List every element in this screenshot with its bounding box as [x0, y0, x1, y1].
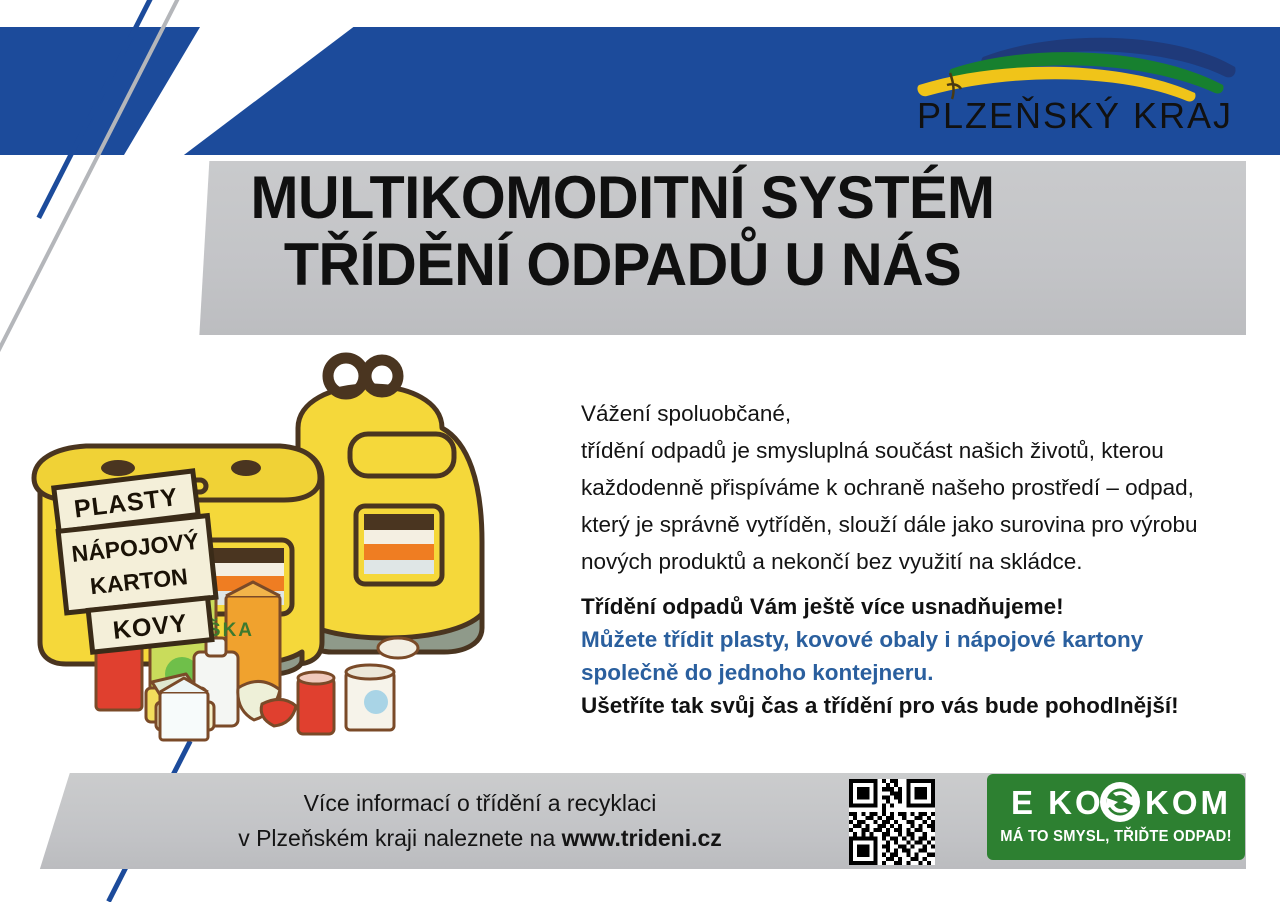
ekokom-wordmark: E KO KOM [987, 780, 1245, 824]
body-line-5: nových produktů a nekončí bez využití na… [581, 543, 1261, 580]
item-red-can [298, 678, 334, 734]
footer-line-2-prefix: v Plzeňském kraji naleznete na [238, 825, 561, 851]
bin-lid-slot-left [101, 460, 135, 476]
body-line-3: každodenně přispíváme k ochraně našeho p… [581, 469, 1261, 506]
region-logo-name: PLZEŇSKÝ KRAJ [905, 95, 1245, 137]
item-tin-lid [378, 638, 418, 658]
item-tin-label-dot [364, 690, 388, 714]
item-red-can-top [298, 672, 334, 684]
item-milk-carton [160, 692, 208, 740]
footer-line-2: v Plzeňském kraji naleznete na www.tride… [150, 821, 810, 856]
footer-info: Více informací o třídění a recyklaci v P… [150, 786, 810, 856]
plzensky-kraj-logo: PLZEŇSKÝ KRAJ [905, 33, 1245, 145]
igloo-label-stripe-light [364, 560, 434, 574]
ekokom-word-left: E KO [1011, 784, 1104, 821]
website-link[interactable]: www.trideni.cz [562, 825, 722, 851]
body-paragraph: Vážení spoluobčané, třídění odpadů je sm… [581, 395, 1261, 580]
recycling-illustration: TAŠKA PLASTY NÁPOJOVÝ KARTON KOVY [30, 352, 570, 762]
item-tin-can-rim [346, 665, 394, 679]
ekokom-tagline: MÁ TO SMYSL, TŘIĎTE ODPAD! [997, 828, 1234, 846]
body-line-4: který je správně vytříděn, slouží dále j… [581, 506, 1261, 543]
emphasis-line-4: Ušetříte tak svůj čas a třídění pro vás … [581, 689, 1271, 722]
igloo-label-stripe-dark [364, 514, 434, 530]
poster-page: PLZEŇSKÝ KRAJ MULTIKOMODITNÍ SYSTÉM TŘÍD… [0, 0, 1280, 902]
ekokom-word-right: KOM [1145, 784, 1231, 821]
body-line-1: Vážení spoluobčané, [581, 395, 1261, 432]
footer-line-1: Více informací o třídění a recyklaci [150, 786, 810, 821]
igloo-label-stripe-cream [364, 530, 434, 544]
emphasis-block: Třídění odpadů Vám ještě více usnadňujem… [581, 590, 1271, 722]
emphasis-line-3: společně do jednoho kontejneru. [581, 656, 1271, 689]
emphasis-line-1: Třídění odpadů Vám ještě více usnadňujem… [581, 590, 1271, 623]
recycle-arrow-icon [1100, 782, 1140, 822]
item-red-squashed-can [261, 699, 296, 726]
igloo-opening-upper [350, 434, 454, 476]
bin-lid-slot-right [231, 460, 261, 476]
igloo-label-stripe-orange [364, 544, 434, 560]
headline-line-1: MULTIKOMODITNÍ SYSTÉM [250, 164, 994, 231]
ekokom-logo: E KO KOM MÁ TO SMYSL, TŘIĎTE ODPAD! [987, 774, 1245, 860]
page-title: MULTIKOMODITNÍ SYSTÉM TŘÍDĚNÍ ODPADŮ U N… [25, 164, 1220, 298]
body-line-2: třídění odpadů je smysluplná součást naš… [581, 432, 1261, 469]
igloo-handle-right [366, 360, 398, 392]
igloo-handle-left [328, 358, 364, 394]
qr-code[interactable] [849, 779, 935, 865]
headline-line-2: TŘÍDĚNÍ ODPADŮ U NÁS [25, 231, 1220, 298]
emphasis-line-2: Můžete třídit plasty, kovové obaly i náp… [581, 623, 1271, 656]
